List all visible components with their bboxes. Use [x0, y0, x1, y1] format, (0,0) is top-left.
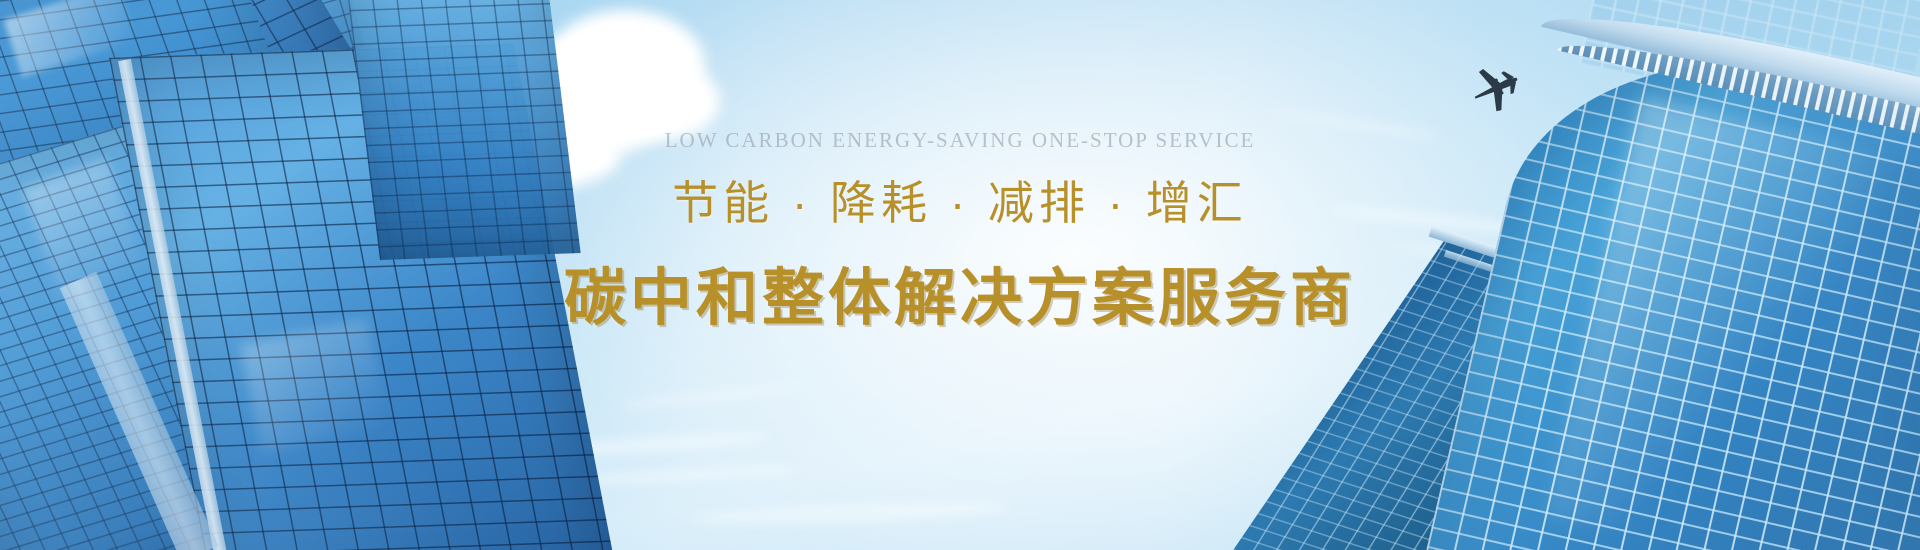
banner-eyebrow-text: LOW CARBON ENERGY-SAVING ONE-STOP SERVIC…	[665, 128, 1256, 153]
banner-subline-text: 节能 · 降耗 · 减排 · 增汇	[672, 167, 1248, 233]
banner-headline-text: 碳中和整体解决方案服务商	[564, 247, 1356, 337]
banner-copy: LOW CARBON ENERGY-SAVING ONE-STOP SERVIC…	[0, 0, 1920, 550]
hero-banner: LOW CARBON ENERGY-SAVING ONE-STOP SERVIC…	[0, 0, 1920, 550]
